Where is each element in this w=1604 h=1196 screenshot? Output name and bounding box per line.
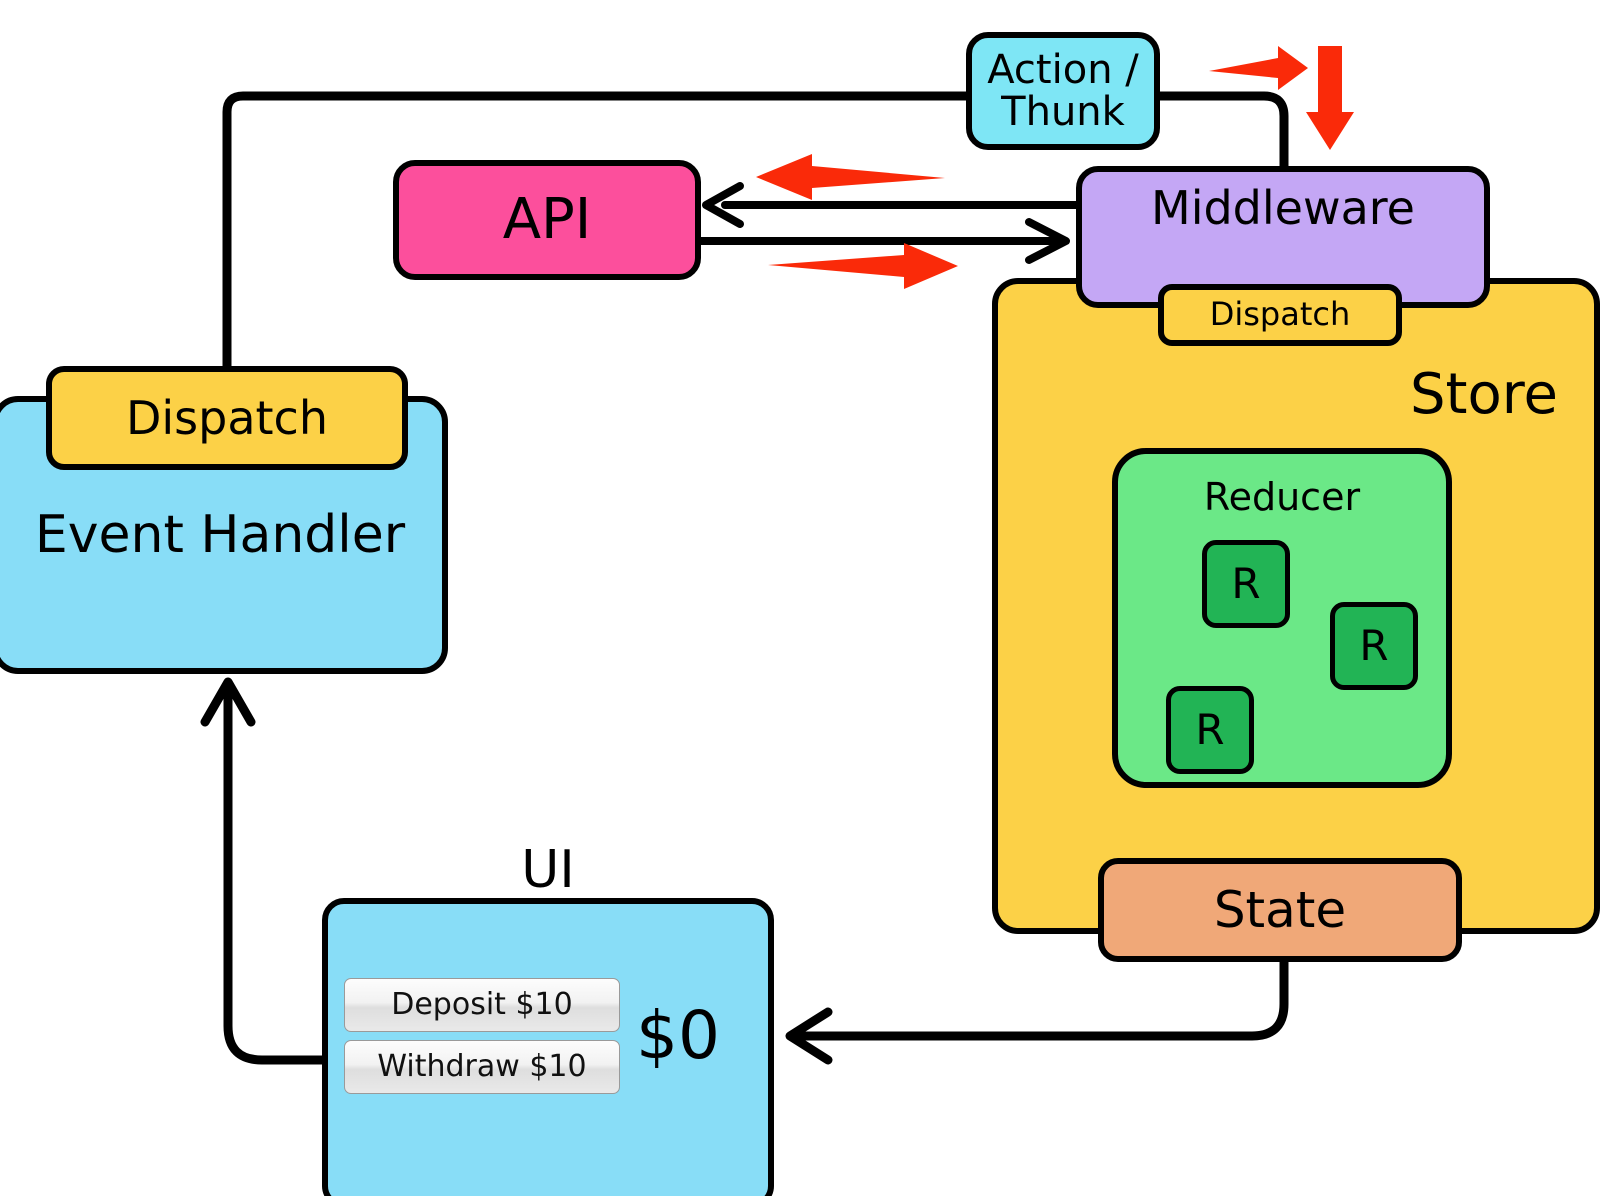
dispatch-node-event-handler: Dispatch — [46, 366, 408, 470]
ui-label: UI — [322, 840, 774, 900]
reducer-container: Reducer R R R — [1112, 448, 1452, 788]
action-thunk-node: Action / Thunk — [966, 32, 1160, 150]
reducer-label: Reducer — [1118, 478, 1446, 518]
reducer-item: R — [1166, 686, 1254, 774]
ui-panel-content: Deposit $10 Withdraw $10 $0 — [344, 978, 720, 1094]
red-arrow-middleware-to-api — [756, 154, 945, 200]
redux-flow-diagram: Store Reducer R R R State Middleware Dis… — [0, 0, 1604, 1196]
state-node: State — [1098, 858, 1462, 962]
dispatch-node-store: Dispatch — [1158, 284, 1402, 346]
action-thunk-line-2: Thunk — [987, 91, 1138, 133]
red-arrow-api-to-middleware — [768, 243, 958, 289]
red-arrow-middleware-down — [1306, 46, 1354, 150]
arrowhead-into-api — [706, 186, 740, 224]
arrowhead-ui-to-event-handler — [205, 682, 251, 722]
deposit-button[interactable]: Deposit $10 — [344, 978, 620, 1032]
withdraw-button[interactable]: Withdraw $10 — [344, 1040, 620, 1094]
arrowhead-state-to-ui — [790, 1012, 828, 1060]
arrowhead-into-middleware — [1029, 222, 1066, 260]
reducer-item: R — [1202, 540, 1290, 628]
wire-ui-to-event-handler — [228, 690, 322, 1060]
action-thunk-line-1: Action / — [987, 49, 1138, 91]
store-label: Store — [1410, 366, 1558, 425]
api-node: API — [393, 160, 701, 280]
wire-state-to-ui — [800, 962, 1284, 1036]
wire-action-to-middleware — [1160, 96, 1284, 172]
red-arrow-action-to-middleware — [1209, 46, 1308, 90]
ui-button-group: Deposit $10 Withdraw $10 — [344, 978, 620, 1094]
ui-panel: Deposit $10 Withdraw $10 $0 — [322, 898, 774, 1196]
reducer-item: R — [1330, 602, 1418, 690]
balance-display: $0 — [636, 1003, 720, 1069]
